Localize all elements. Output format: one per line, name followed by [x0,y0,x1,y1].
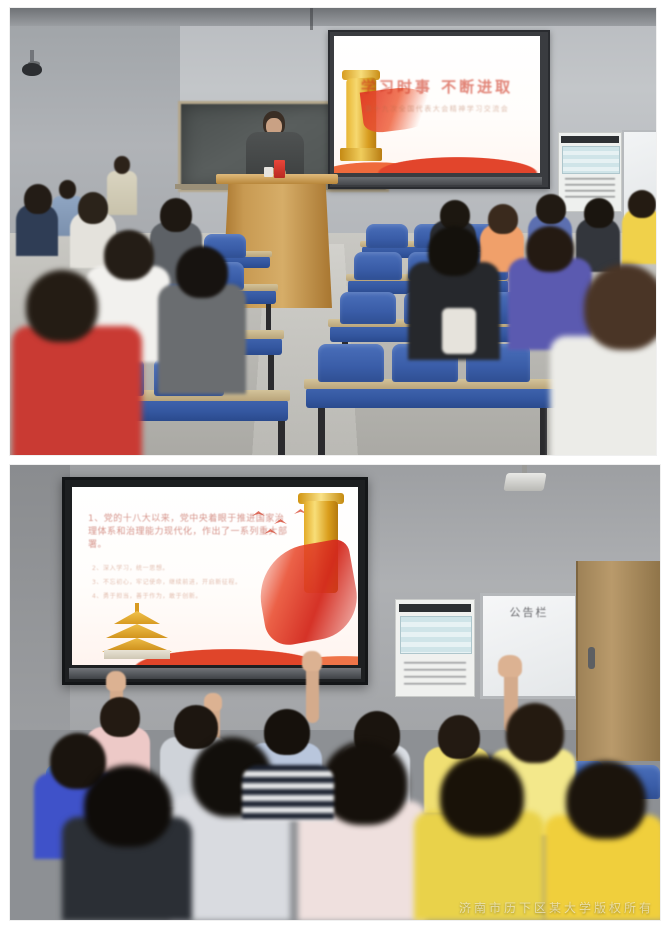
audience-hands-raised-photo: 1、党的十八大以来，党中央着眼于推进国家治理体系和治理能力现代化，作出了一系列重… [10,465,660,920]
projector-screen: 学习时事 不断进取 第十九次全国代表大会精神学习交流会 [334,36,540,173]
ceiling-projector-icon [503,473,546,491]
screen-bottom-bar [332,177,542,185]
poster-text-lines [565,178,615,200]
classroom-side-wall [10,465,70,730]
bulletin-board-title: 公告栏 [483,604,575,620]
student-torso-striped [242,765,334,821]
slide-title: 学习时事 不断进取 [334,76,540,97]
student-head-front [566,761,646,839]
door-handle [588,647,595,669]
chair-back [366,224,408,248]
chair-back [318,344,384,382]
poster-header-bar [399,604,471,612]
ceiling [10,8,656,26]
raised-hand [302,651,322,671]
desk-leg [540,408,547,455]
student-head [438,715,480,759]
student-head [176,246,228,298]
chair-back [354,252,402,280]
bulletin-whiteboard: 公告栏 [480,593,578,699]
student-head [488,204,518,234]
red-thermos [274,160,285,178]
poster-table [400,616,472,654]
projector-screen-frame: 学习时事 不断进取 第十九次全国代表大会精神学习交流会 [328,30,550,189]
poster-text-lines [404,662,466,686]
student-head-front [84,765,172,847]
lecture-overview-photo: 学习时事 不断进取 第十九次全国代表大会精神学习交流会 [10,8,656,455]
student-torso-red [12,326,142,455]
slide-bullet-2: 2、深入学习，统一思想。 [92,564,293,574]
student-head [264,709,310,755]
chair-back [340,292,396,324]
student-head [506,703,564,763]
projector-screen: 1、党的十八大以来，党中央着眼于推进国家治理体系和治理能力现代化，作出了一系列重… [72,487,358,665]
standing-person-2-head [59,180,76,199]
slide-temple-of-heaven-graphic [102,607,172,659]
student-head [584,198,614,228]
student-head-front [322,741,408,825]
student-head [24,184,52,214]
student-head [536,194,566,224]
poster-table [562,146,620,174]
desk-leg [318,408,325,455]
slide-column-base-graphic [340,148,382,161]
student-head [100,697,140,737]
student-head [104,230,154,280]
slide-subtitle: 第十九次全国代表大会精神学习交流会 [334,104,540,114]
student-head [78,192,108,224]
paper-cup [264,167,273,177]
desk-leg [278,421,285,455]
student-torso [158,284,246,394]
security-camera-icon [22,63,42,76]
raised-hand [498,655,522,677]
photo-page: 学习时事 不断进取 第十九次全国代表大会精神学习交流会 [0,0,665,925]
schedule-poster [395,599,475,697]
student-head [160,198,192,232]
student-head [26,270,98,342]
student-torso-front [550,336,656,455]
student-head [628,190,656,218]
slide-bullet-0: 1、党的十八大以来，党中央着眼于推进国家治理体系和治理能力现代化，作出了一系列重… [88,513,293,552]
student-head-front [584,264,656,350]
student-head [428,226,480,276]
student-head [526,226,574,272]
standing-person-head [114,156,130,174]
ceiling-seam [310,8,313,30]
projector-screen-frame: 1、党的十八大以来，党中央着眼于推进国家治理体系和治理能力现代化，作出了一系列重… [62,477,368,685]
raised-hand [106,671,126,691]
handbag [442,308,476,354]
poster-header-bar [561,136,619,143]
student-head-front [440,755,524,837]
standing-person-torso [107,171,137,215]
desk-row [306,388,556,408]
